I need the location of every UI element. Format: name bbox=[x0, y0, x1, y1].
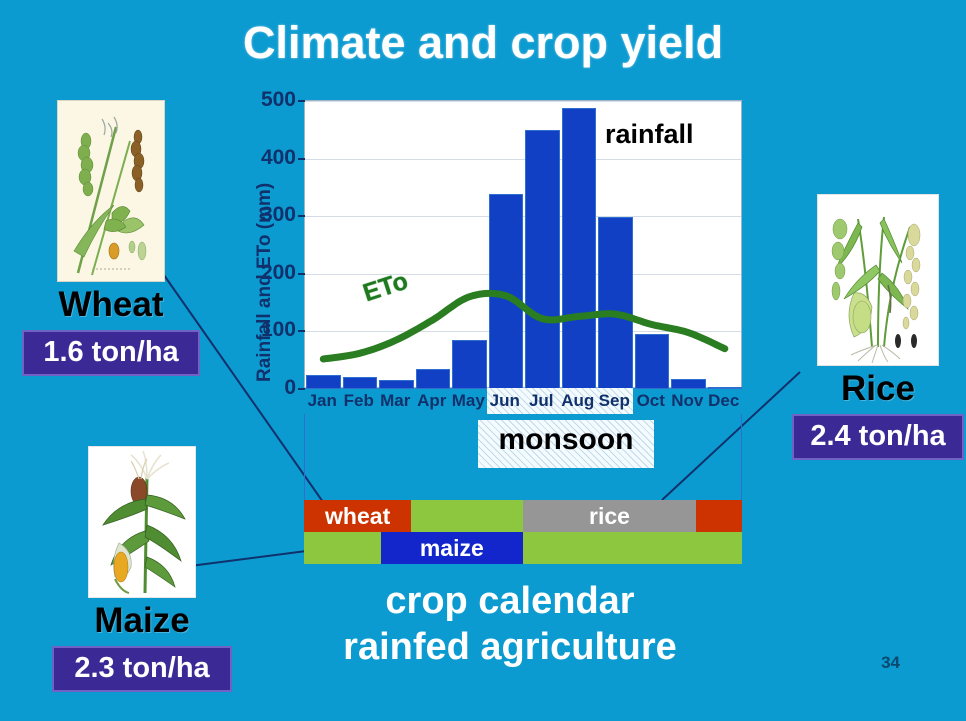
month-label-dec: Dec bbox=[706, 388, 743, 414]
y-tick-mark-300 bbox=[298, 215, 305, 217]
plot-area: ETo rainfall bbox=[304, 100, 742, 388]
slide-number: 34 bbox=[881, 653, 900, 673]
calendar-segment-fallow-0-3 bbox=[696, 500, 742, 532]
y-tick-label-0: 0 bbox=[248, 377, 296, 398]
x-axis-months: JanFebMarAprMayJunJulAugSepOctNovDec bbox=[304, 388, 742, 414]
y-tick-mark-400 bbox=[298, 158, 305, 160]
calendar-row-lower: maize bbox=[304, 532, 742, 564]
calendar-segment-fallow-1-0 bbox=[304, 532, 381, 564]
slide-caption: crop calendar rainfed agriculture bbox=[230, 578, 790, 670]
calendar-label-wheat: wheat bbox=[304, 500, 411, 532]
y-tick-mark-500 bbox=[298, 100, 305, 102]
y-tick-label-400: 400 bbox=[248, 147, 296, 168]
calendar-label-rice: rice bbox=[523, 500, 696, 532]
wheat-botanical-image bbox=[57, 100, 165, 282]
y-tick-mark-200 bbox=[298, 273, 305, 275]
calendar-segment-fallow-0-1 bbox=[411, 500, 523, 532]
crop-panel-wheat: Wheat 1.6 ton/ha bbox=[22, 100, 200, 376]
calendar-row-upper: wheatrice bbox=[304, 500, 742, 532]
crop-panel-maize: Maize 2.3 ton/ha bbox=[52, 446, 232, 692]
y-tick-mark-100 bbox=[298, 330, 305, 332]
caption-line-2: rainfed agriculture bbox=[230, 624, 790, 670]
rainfall-series-label: rainfall bbox=[605, 119, 694, 150]
calendar-label-maize: maize bbox=[381, 532, 523, 564]
month-label-jan: Jan bbox=[304, 388, 341, 414]
yield-badge-maize: 2.3 ton/ha bbox=[52, 646, 232, 692]
month-label-mar: Mar bbox=[377, 388, 414, 414]
crop-panel-rice: Rice 2.4 ton/ha bbox=[792, 194, 964, 460]
month-label-feb: Feb bbox=[341, 388, 378, 414]
caption-line-1: crop calendar bbox=[230, 578, 790, 624]
calendar-segment-fallow-1-2 bbox=[523, 532, 742, 564]
month-label-nov: Nov bbox=[669, 388, 706, 414]
month-label-may: May bbox=[450, 388, 487, 414]
monsoon-annotation: monsoon bbox=[478, 420, 654, 468]
y-tick-label-100: 100 bbox=[248, 319, 296, 340]
crop-name-rice: Rice bbox=[792, 368, 964, 410]
month-label-sep: Sep bbox=[596, 388, 633, 414]
month-label-oct: Oct bbox=[633, 388, 670, 414]
crop-calendar: wheatrice maize bbox=[304, 500, 742, 564]
yield-badge-rice: 2.4 ton/ha bbox=[792, 414, 964, 460]
y-tick-label-200: 200 bbox=[248, 262, 296, 283]
month-label-jul: Jul bbox=[523, 388, 560, 414]
crop-name-wheat: Wheat bbox=[22, 284, 200, 326]
month-label-apr: Apr bbox=[414, 388, 451, 414]
maize-botanical-image bbox=[88, 446, 196, 598]
yield-badge-wheat: 1.6 ton/ha bbox=[22, 330, 200, 376]
y-tick-label-500: 500 bbox=[248, 89, 296, 110]
y-tick-label-300: 300 bbox=[248, 204, 296, 225]
rice-botanical-image bbox=[817, 194, 939, 366]
month-label-aug: Aug bbox=[560, 388, 597, 414]
month-label-jun: Jun bbox=[487, 388, 524, 414]
crop-name-maize: Maize bbox=[52, 600, 232, 642]
slide-canvas: Climate and crop yield bbox=[0, 0, 966, 721]
rainfall-eto-chart: Rainfall and ETo (mm) ETo rainfall 01002… bbox=[248, 100, 742, 556]
